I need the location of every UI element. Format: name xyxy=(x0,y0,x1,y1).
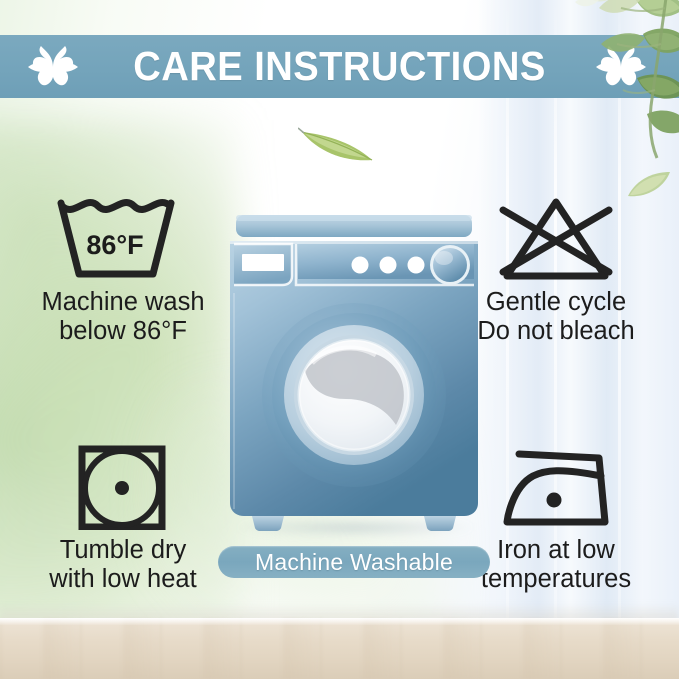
no-bleach-triangle-icon xyxy=(481,196,631,282)
care-label-iron: Iron at low temperatures xyxy=(481,536,631,594)
washing-machine-illustration xyxy=(228,213,480,531)
status-badge-label: Machine Washable xyxy=(255,551,453,574)
tumble-dry-icon xyxy=(48,444,198,530)
floating-leaf-icon xyxy=(298,122,378,164)
care-label-do-not-bleach: Gentle cycle Do not bleach xyxy=(477,288,634,346)
care-item-do-not-bleach: Gentle cycle Do not bleach xyxy=(451,196,661,346)
background-wood-table xyxy=(0,618,679,679)
care-item-tumble-dry: Tumble dry with low heat xyxy=(18,444,228,594)
care-label-machine-wash: Machine wash below 86°F xyxy=(42,288,205,346)
iron-icon xyxy=(481,444,631,530)
care-item-machine-wash: 86°F Machine wash below 86°F xyxy=(18,196,228,346)
status-badge: Machine Washable xyxy=(218,546,490,578)
care-label-tumble-dry: Tumble dry with low heat xyxy=(49,536,196,594)
page-title: CARE INSTRUCTIONS xyxy=(24,35,655,98)
care-instructions-infographic: CARE INSTRUCTIONS xyxy=(0,0,679,679)
wash-temperature-value: 86°F xyxy=(40,196,190,282)
